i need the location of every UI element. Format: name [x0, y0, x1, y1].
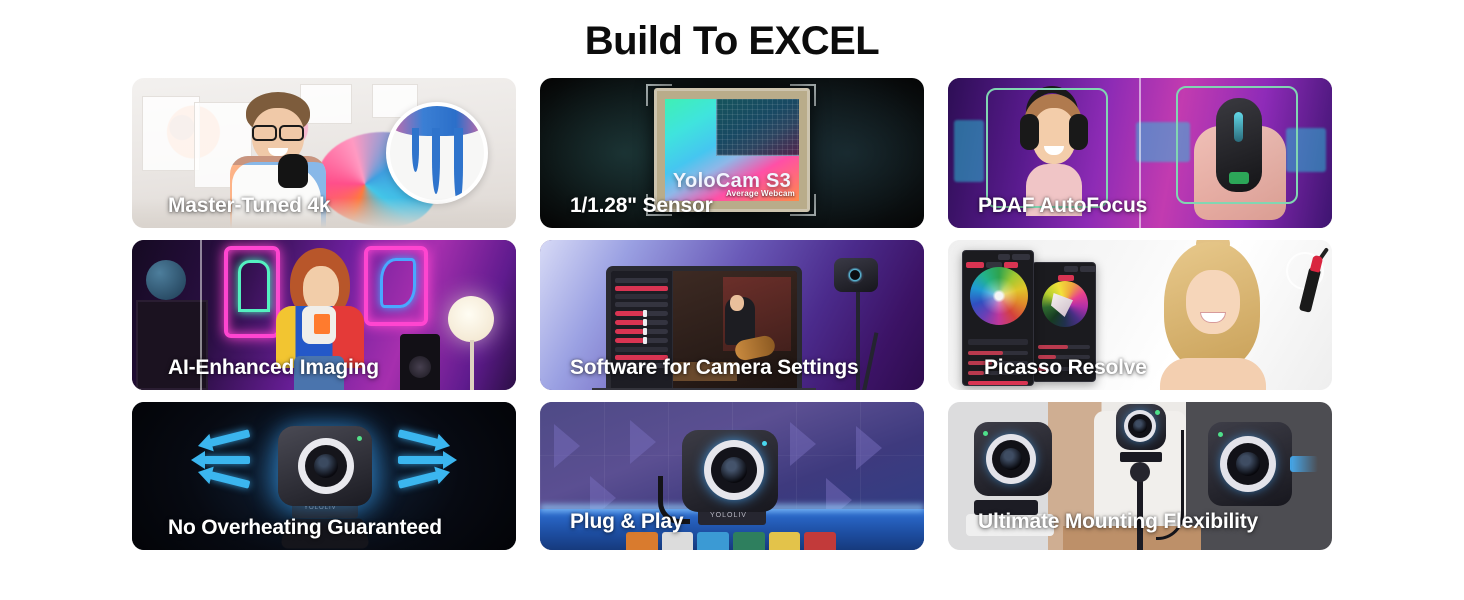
card-label-ultimate-mounting-flexibility: Ultimate Mounting Flexibility	[978, 510, 1258, 534]
feature-grid-page: Build To EXCEL Master-Tuned 4k	[0, 0, 1464, 600]
card-label-no-overheating: No Overheating Guaranteed	[168, 516, 442, 540]
feature-card-ai-enhanced-imaging[interactable]: AI-Enhanced Imaging	[132, 240, 516, 390]
card-label-sensor: 1/1.28" Sensor	[570, 194, 713, 218]
feature-card-no-overheating[interactable]: YOLOLIV No Overheating Guaranteed	[132, 402, 516, 550]
af-bracket-right	[1176, 86, 1298, 204]
product-sensor-label: YoloCam S3	[665, 170, 799, 193]
brand-mark-text: YOLOLIV	[710, 512, 747, 519]
webcam-clip-mount	[974, 422, 1052, 496]
webcam-magnetic-mount	[1208, 422, 1292, 506]
webcam-icon	[682, 430, 778, 512]
feature-card-pdaf-autofocus[interactable]: PDAF AutoFocus	[948, 78, 1332, 228]
webcam-icon	[834, 258, 878, 292]
webcam-tripod-mount	[1116, 404, 1166, 450]
feature-card-sensor[interactable]: Average Webcam YoloCam S3 1/1.28" Sensor	[540, 78, 924, 228]
card-label-picasso-resolve: Picasso Resolve	[984, 356, 1147, 380]
card-label-ai-enhanced-imaging: AI-Enhanced Imaging	[168, 356, 379, 380]
card-label-plug-and-play: Plug & Play	[570, 510, 683, 534]
webcam-icon	[278, 426, 372, 506]
feature-card-picasso-resolve[interactable]: Picasso Resolve	[948, 240, 1332, 390]
glasses-icon	[252, 125, 304, 137]
feature-card-software-camera-settings[interactable]: Software for Camera Settings	[540, 240, 924, 390]
magnet-indicator-icon	[1290, 456, 1318, 472]
magnifier-icon	[386, 102, 488, 204]
feature-card-master-tuned-4k[interactable]: Master-Tuned 4k	[132, 78, 516, 228]
feature-card-ultimate-mounting-flexibility[interactable]: Ultimate Mounting Flexibility	[948, 402, 1332, 550]
average-webcam-region	[716, 99, 799, 156]
feature-card-grid: Master-Tuned 4k Average Webcam YoloCam S…	[132, 78, 1332, 550]
card-label-pdaf-autofocus: PDAF AutoFocus	[978, 194, 1147, 218]
card-label-master-tuned-4k: Master-Tuned 4k	[168, 194, 330, 218]
af-bracket-left	[986, 88, 1108, 208]
page-title: Build To EXCEL	[0, 0, 1464, 64]
card-label-software-camera-settings: Software for Camera Settings	[570, 356, 858, 380]
feature-card-plug-and-play[interactable]: YOLOLIV Plug & Play	[540, 402, 924, 550]
